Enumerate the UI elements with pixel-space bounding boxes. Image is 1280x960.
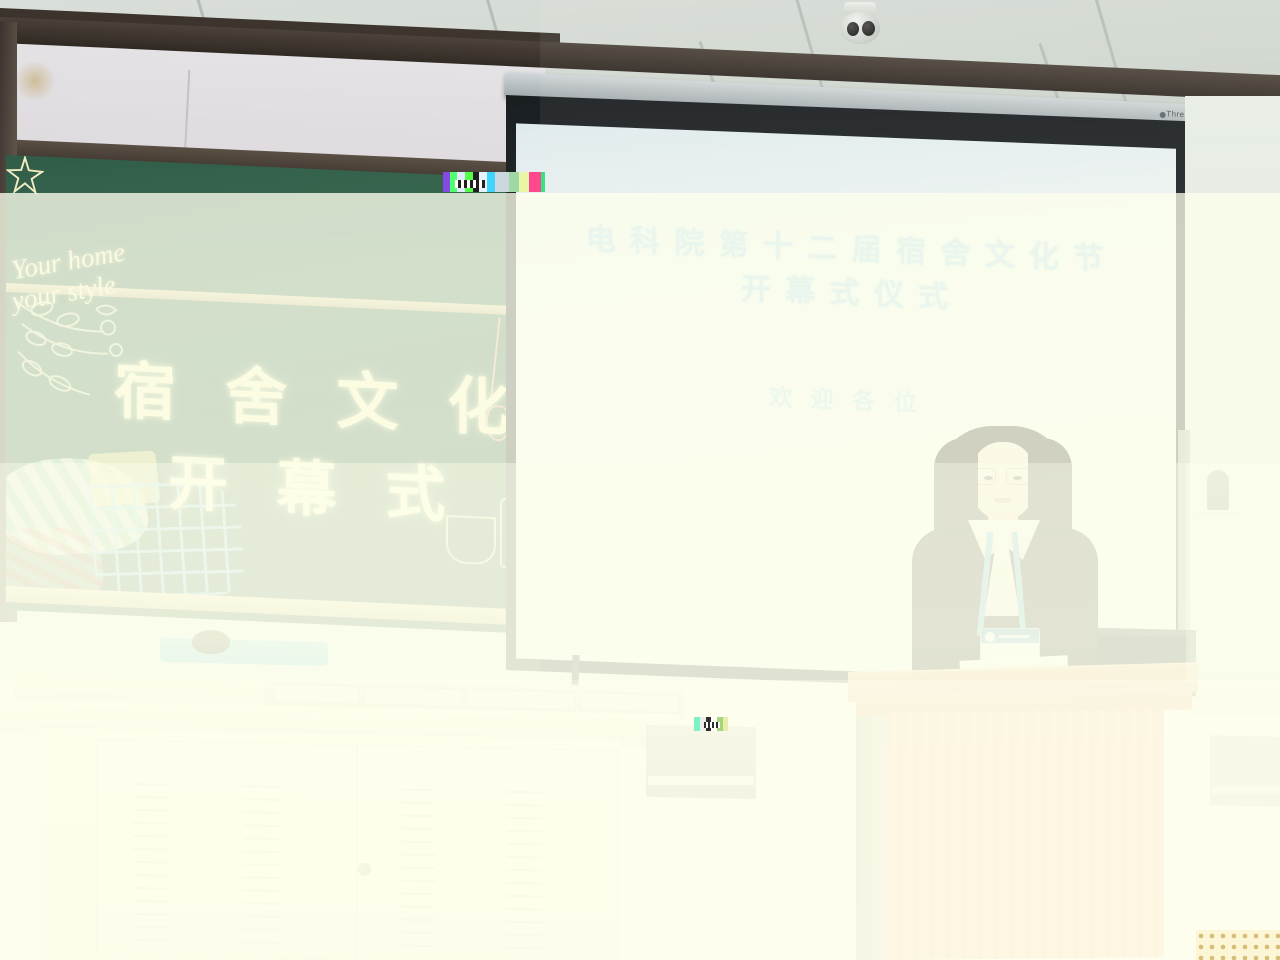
cabinet-vent (507, 791, 543, 950)
digital-corruption-block (455, 180, 485, 188)
cabinet-vent (133, 783, 169, 942)
podium-body (886, 709, 1164, 960)
av-equipment-box (646, 725, 756, 799)
cabinet-vent (399, 789, 435, 948)
photograph-canvas: 宿 舍 文 化 节 开 幕 式 Your home your style Thr… (0, 0, 1280, 960)
brand-logo-icon (1160, 112, 1166, 118)
chalk-star-icon (6, 155, 44, 195)
slide-subtitle: 欢 迎 各 位 (516, 368, 1176, 427)
dome-security-camera-icon (838, 2, 882, 46)
dithered-corruption-strip (1196, 930, 1280, 960)
badge-text-line (999, 635, 1029, 638)
drawer-segment[interactable] (364, 686, 462, 708)
av-equipment-box (1210, 735, 1280, 806)
drawer-segment[interactable] (466, 689, 576, 711)
equipment-front-panel (648, 776, 754, 785)
overexposed-horizontal-band (0, 463, 540, 680)
wall-stain (12, 62, 58, 100)
presenter-mouth (994, 498, 1012, 503)
presenter (898, 420, 1108, 690)
camera-lens (862, 21, 875, 36)
cabinet-lock-icon[interactable] (358, 863, 371, 876)
digital-corruption-block (704, 722, 720, 728)
screen-support-leg (571, 655, 579, 687)
badge-logo-icon (985, 632, 995, 642)
camera-lens (847, 22, 859, 36)
camera-dome (840, 12, 880, 44)
teacher-desk-cabinet[interactable] (40, 728, 620, 960)
podium-side-panel (856, 706, 890, 960)
slide-content: 电 科 院 第 十 二 届 宿 舍 文 化 节 开 幕 式 仪 式 欢 迎 各 … (516, 215, 1176, 427)
drawer-segment[interactable] (580, 692, 680, 714)
cabinet-door-right[interactable] (356, 745, 618, 960)
equipment-front-panel (1212, 786, 1280, 794)
overexposed-horizontal-band (1186, 463, 1280, 683)
cabinet-door-left[interactable] (96, 739, 358, 960)
cabinet-vent (243, 785, 279, 944)
drawer-segment[interactable] (274, 683, 360, 704)
